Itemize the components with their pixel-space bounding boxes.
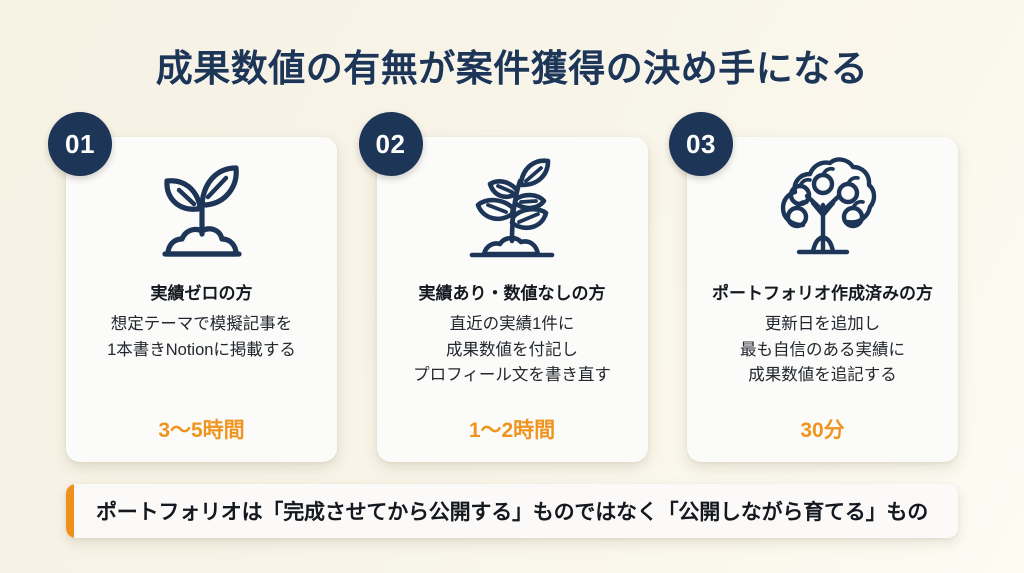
banner-text: ポートフォリオは「完成させてから公開する」ものではなく「公開しながら育てる」もの <box>74 496 958 526</box>
card-step-02[interactable]: 02 <box>377 137 648 462</box>
card-time-03: 30分 <box>687 414 958 444</box>
page-title: 成果数値の有無が案件獲得の決め手になる <box>0 38 1024 92</box>
card-step-01[interactable]: 01 実績ゼロの方 想定テーマで模擬記事を 1本書きNotion <box>66 137 337 462</box>
card-body-01: 想定テーマで模擬記事を 1本書きNotionに掲載する <box>107 312 296 363</box>
card-time-01: 3〜5時間 <box>66 414 337 444</box>
growing-plant-icon <box>462 141 562 281</box>
summary-banner: ポートフォリオは「完成させてから公開する」ものではなく「公開しながら育てる」もの <box>66 484 958 538</box>
fruit-tree-icon <box>767 141 879 281</box>
card-body-02: 直近の実績1件に 成果数値を付記し プロフィール文を書き直す <box>413 312 611 389</box>
card-step-03[interactable]: 03 <box>687 137 958 462</box>
card-title-01: 実績ゼロの方 <box>151 283 253 305</box>
sprout-icon <box>152 141 252 281</box>
step-badge-03: 03 <box>669 112 733 176</box>
cards-row: 01 実績ゼロの方 想定テーマで模擬記事を 1本書きNotion <box>66 137 958 462</box>
card-time-02: 1〜2時間 <box>377 414 648 444</box>
card-title-03: ポートフォリオ作成済みの方 <box>712 283 933 305</box>
card-body-03: 更新日を追加し 最も自信のある実績に 成果数値を追記する <box>740 312 905 389</box>
banner-accent-bar <box>66 484 74 538</box>
slide-root: 成果数値の有無が案件獲得の決め手になる 01 <box>0 0 1024 573</box>
step-badge-01: 01 <box>48 112 112 176</box>
card-title-02: 実績あり・数値なしの方 <box>419 283 606 305</box>
step-badge-02: 02 <box>359 112 423 176</box>
